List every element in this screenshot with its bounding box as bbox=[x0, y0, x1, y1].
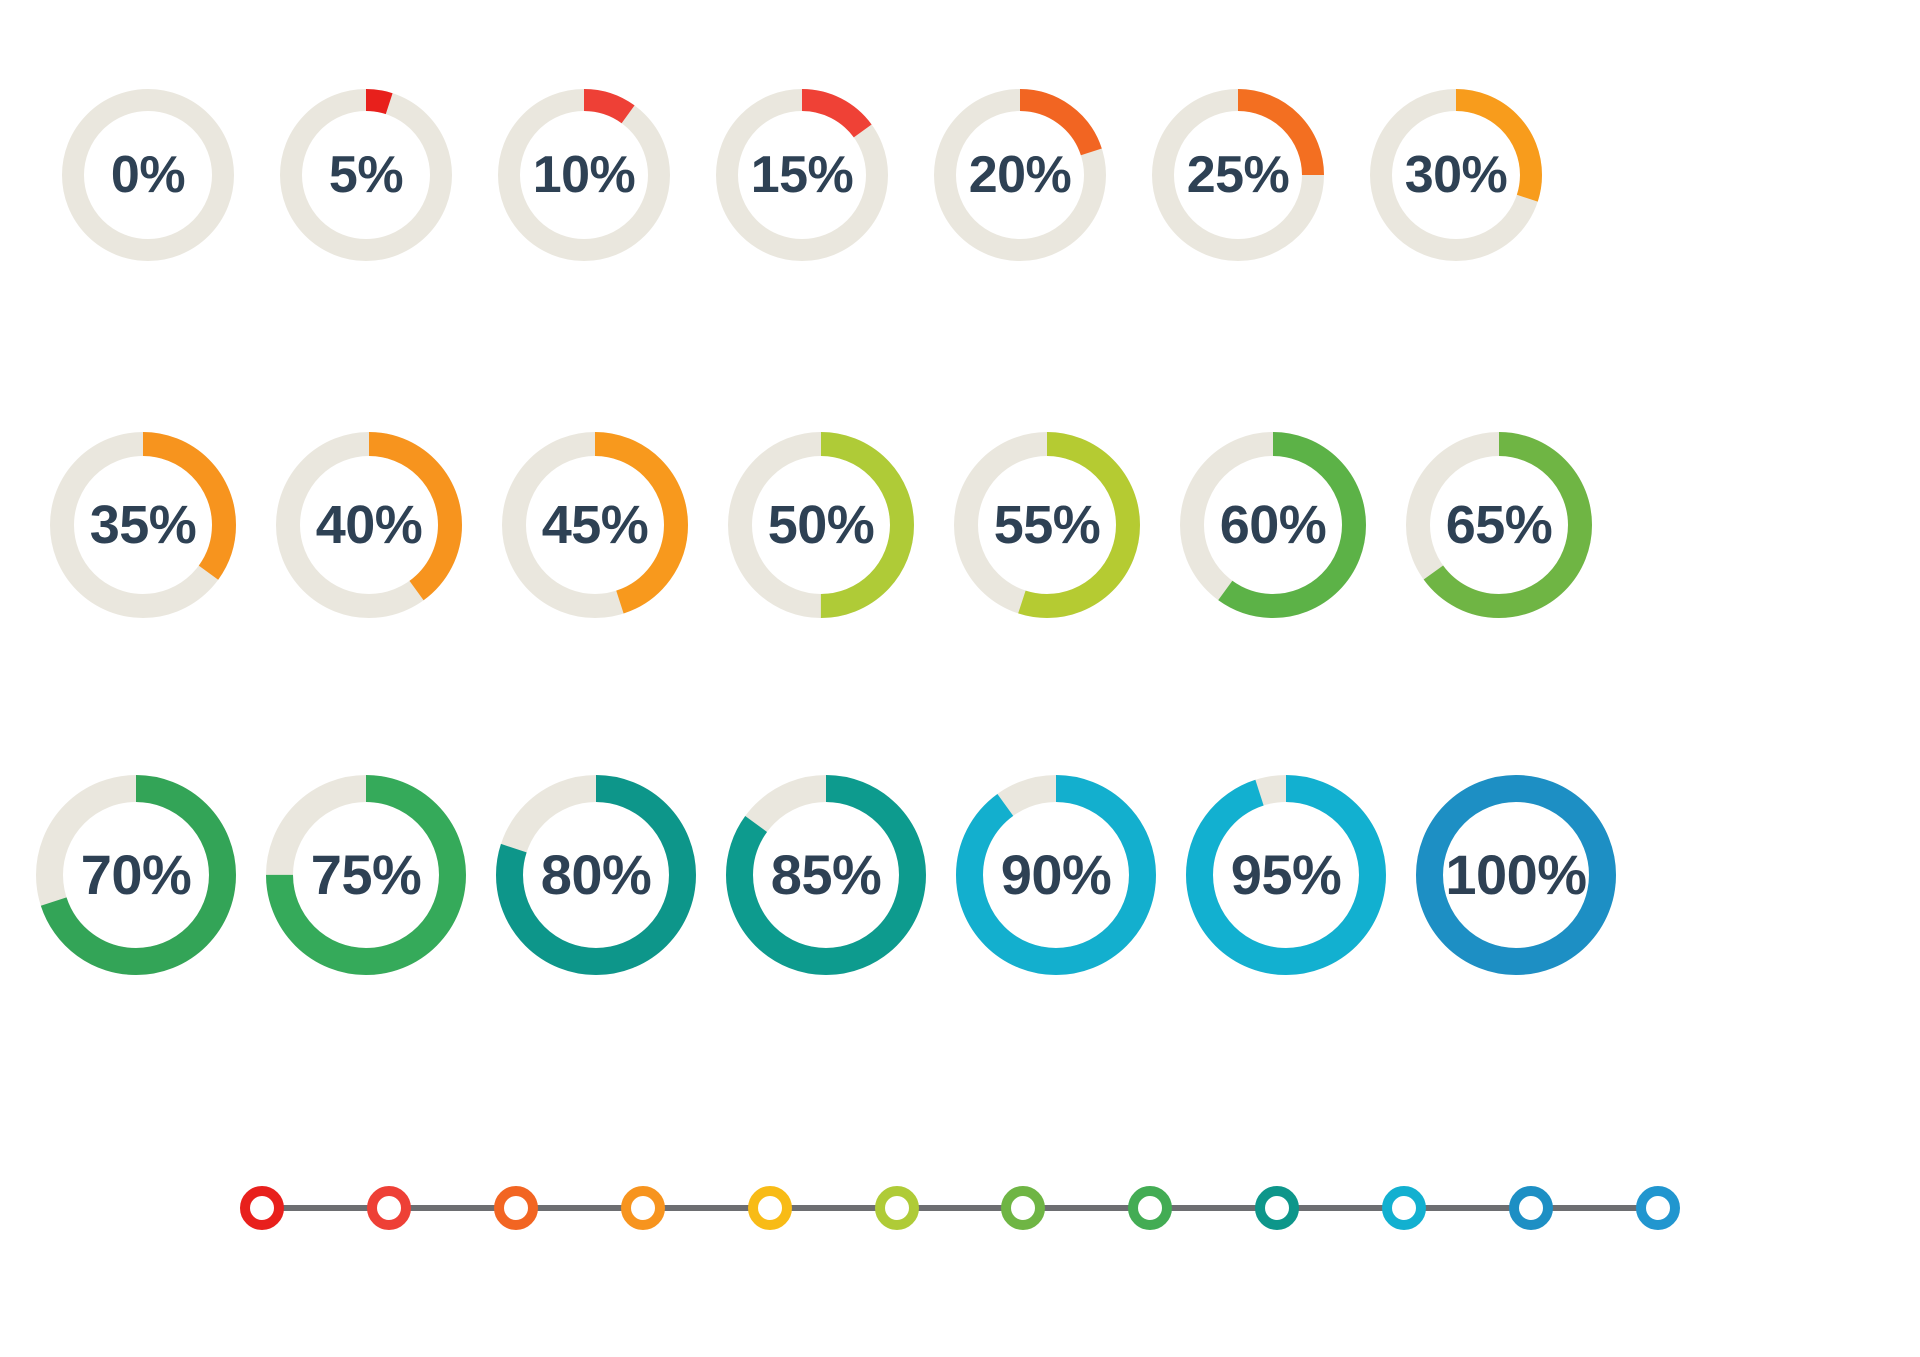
color-timeline bbox=[0, 1148, 1920, 1268]
donut-gauge-15: 15% bbox=[716, 89, 888, 261]
gauge-percent-label: 75% bbox=[266, 847, 466, 903]
gauge-percent-label: 30% bbox=[1370, 149, 1542, 201]
gauge-percent-label: 100% bbox=[1416, 847, 1616, 903]
donut-gauge-10: 10% bbox=[498, 89, 670, 261]
donut-gauge-55: 55% bbox=[954, 432, 1140, 618]
donut-gauge-50: 50% bbox=[728, 432, 914, 618]
gauge-percent-label: 10% bbox=[498, 149, 670, 201]
gauge-percent-label: 15% bbox=[716, 149, 888, 201]
timeline-node-1[interactable] bbox=[240, 1186, 284, 1230]
gauge-percent-label: 35% bbox=[50, 498, 236, 552]
donut-gauge-95: 95% bbox=[1186, 775, 1386, 975]
gauge-percent-label: 80% bbox=[496, 847, 696, 903]
donut-gauge-75: 75% bbox=[266, 775, 466, 975]
gauge-percent-label: 95% bbox=[1186, 847, 1386, 903]
gauge-row-2: 35%40%45%50%55%60%65% bbox=[0, 350, 1920, 700]
donut-gauge-60: 60% bbox=[1180, 432, 1366, 618]
timeline-node-7[interactable] bbox=[1001, 1186, 1045, 1230]
donut-gauge-70: 70% bbox=[36, 775, 236, 975]
timeline-node-12[interactable] bbox=[1636, 1186, 1680, 1230]
gauge-row-3: 70%75%80%85%90%95%100% bbox=[0, 700, 1920, 1050]
donut-gauge-90: 90% bbox=[956, 775, 1156, 975]
gauge-percent-label: 60% bbox=[1180, 498, 1366, 552]
donut-gauge-35: 35% bbox=[50, 432, 236, 618]
donut-gauge-25: 25% bbox=[1152, 89, 1324, 261]
timeline-node-3[interactable] bbox=[494, 1186, 538, 1230]
gauge-grid: 0%5%10%15%20%25%30% 35%40%45%50%55%60%65… bbox=[0, 0, 1920, 1050]
timeline-node-2[interactable] bbox=[367, 1186, 411, 1230]
timeline-node-5[interactable] bbox=[748, 1186, 792, 1230]
donut-gauge-85: 85% bbox=[726, 775, 926, 975]
donut-gauge-80: 80% bbox=[496, 775, 696, 975]
gauge-percent-label: 85% bbox=[726, 847, 926, 903]
gauge-percent-label: 20% bbox=[934, 149, 1106, 201]
timeline-node-6[interactable] bbox=[875, 1186, 919, 1230]
donut-gauge-30: 30% bbox=[1370, 89, 1542, 261]
timeline-node-8[interactable] bbox=[1128, 1186, 1172, 1230]
timeline-node-10[interactable] bbox=[1382, 1186, 1426, 1230]
gauge-percent-label: 65% bbox=[1406, 498, 1592, 552]
gauge-percent-label: 90% bbox=[956, 847, 1156, 903]
gauge-row-1: 0%5%10%15%20%25%30% bbox=[0, 0, 1920, 350]
donut-gauge-0: 0% bbox=[62, 89, 234, 261]
gauge-percent-label: 50% bbox=[728, 498, 914, 552]
gauge-percent-label: 70% bbox=[36, 847, 236, 903]
donut-gauge-65: 65% bbox=[1406, 432, 1592, 618]
timeline-track bbox=[240, 1186, 1680, 1230]
timeline-node-11[interactable] bbox=[1509, 1186, 1553, 1230]
timeline-node-9[interactable] bbox=[1255, 1186, 1299, 1230]
gauge-percent-label: 55% bbox=[954, 498, 1140, 552]
gauge-percent-label: 25% bbox=[1152, 149, 1324, 201]
gauge-percent-label: 5% bbox=[280, 149, 452, 201]
gauge-percent-label: 40% bbox=[276, 498, 462, 552]
timeline-connector-line bbox=[268, 1205, 1652, 1211]
timeline-node-4[interactable] bbox=[621, 1186, 665, 1230]
donut-gauge-5: 5% bbox=[280, 89, 452, 261]
donut-gauge-100: 100% bbox=[1416, 775, 1616, 975]
gauge-percent-label: 45% bbox=[502, 498, 688, 552]
donut-gauge-20: 20% bbox=[934, 89, 1106, 261]
donut-gauge-40: 40% bbox=[276, 432, 462, 618]
donut-gauge-45: 45% bbox=[502, 432, 688, 618]
gauge-percent-label: 0% bbox=[62, 149, 234, 201]
infographic-canvas: 0%5%10%15%20%25%30% 35%40%45%50%55%60%65… bbox=[0, 0, 1920, 1357]
